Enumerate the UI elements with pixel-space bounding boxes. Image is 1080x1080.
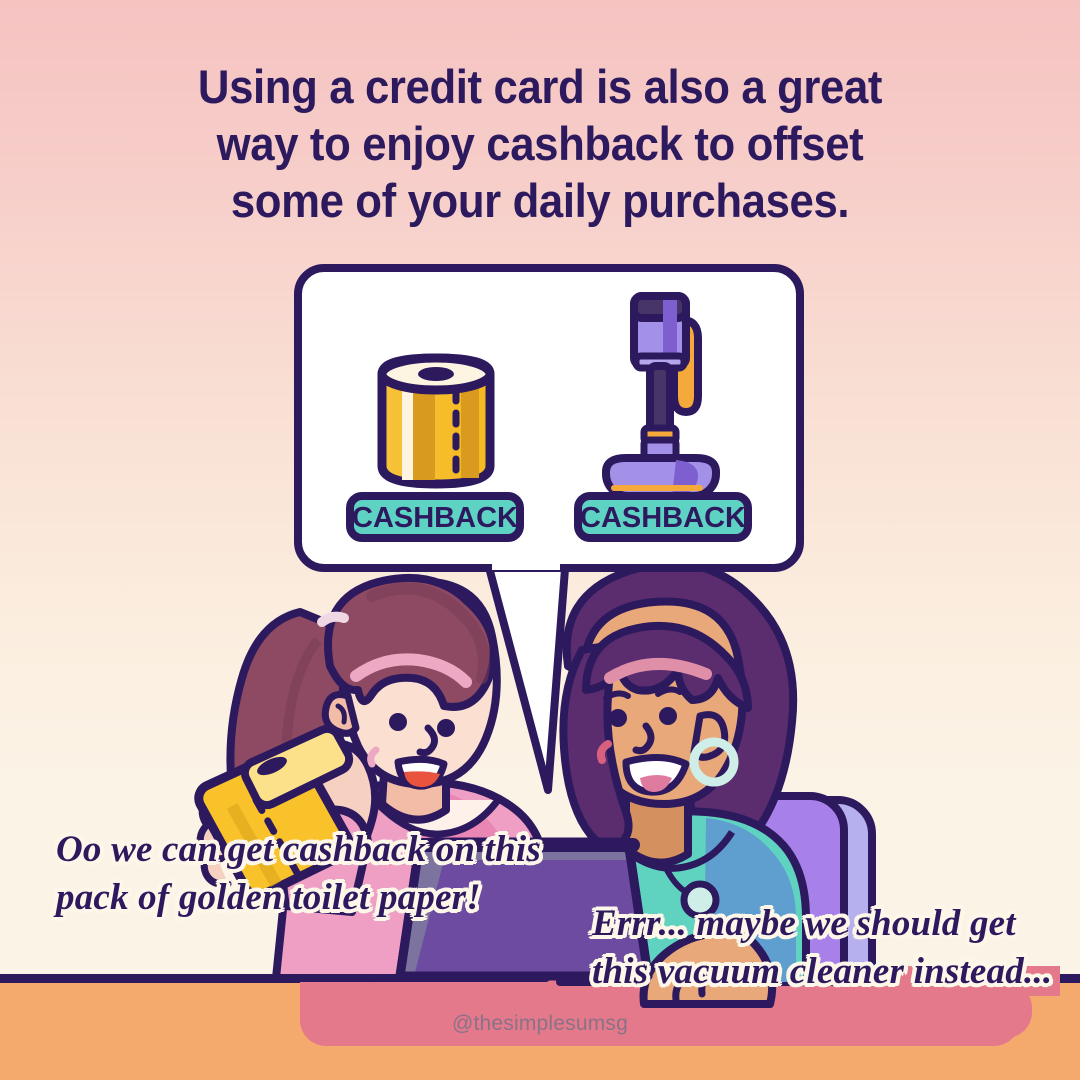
badge-right: CASHBACK xyxy=(578,496,748,538)
badge-left: CASHBACK xyxy=(350,496,520,538)
badge-label-left: CASHBACK xyxy=(352,502,518,534)
caption-right: Errr... maybe we should get this vacuum … xyxy=(592,900,1062,996)
caption-left: Oo we can get cashback on this pack of g… xyxy=(56,826,586,922)
watermark-handle: @thesimplesumsg xyxy=(0,1012,1080,1036)
toilet-paper-roll-icon xyxy=(382,358,490,484)
badge-label-right: CASHBACK xyxy=(580,502,746,534)
poster-canvas: Using a credit card is also a great way … xyxy=(0,0,1080,1080)
